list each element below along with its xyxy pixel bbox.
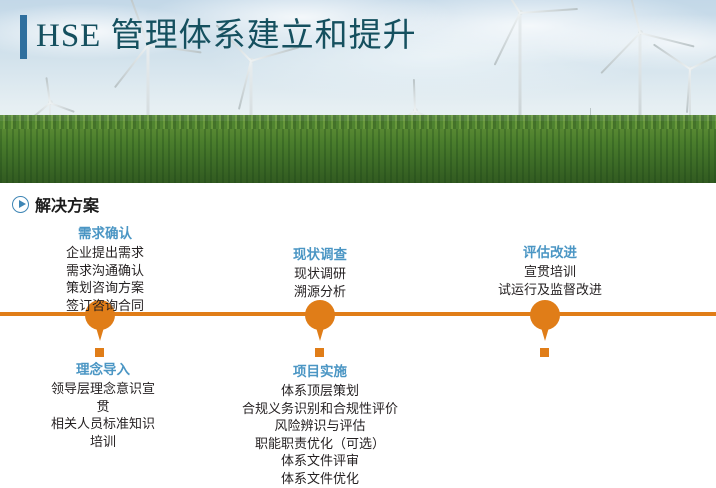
- timeline-node-above-3: 评估改进 宣贯培训 试运行及监督改进: [480, 243, 620, 298]
- timeline-square-3: [540, 348, 549, 357]
- node-item: 体系顶层策划: [230, 382, 410, 400]
- play-circle-icon: [12, 196, 29, 213]
- node-item: 体系文件优化: [230, 470, 410, 488]
- timeline-square-1: [95, 348, 104, 357]
- solution-heading: 解决方案: [12, 192, 99, 216]
- timeline-square-2: [315, 348, 324, 357]
- node-item: 风险辨识与评估: [230, 417, 410, 435]
- marker-tip: [95, 324, 105, 341]
- node-item: 策划咨询方案: [30, 279, 180, 297]
- node-item: 职能职责优化（可选）: [230, 435, 410, 453]
- node-item: 相关人员标准知识培训: [48, 415, 158, 450]
- timeline-marker-3[interactable]: [530, 300, 560, 340]
- timeline-node-below-2: 项目实施 体系顶层策划 合规义务识别和合规性评价 风险辨识与评估 职能职责优化（…: [230, 362, 410, 488]
- node-item: 企业提出需求: [30, 244, 180, 262]
- page-title: HSE 管理体系建立和提升: [36, 12, 417, 60]
- node-title: 评估改进: [480, 243, 620, 262]
- timeline-node-above-2: 现状调查 现状调研 溯源分析: [245, 245, 395, 300]
- node-item: 签订咨询合同: [30, 297, 180, 315]
- timeline-marker-2[interactable]: [305, 300, 335, 340]
- node-item: 合规义务识别和合规性评价: [230, 400, 410, 418]
- marker-tip: [315, 324, 325, 341]
- timeline-node-below-1: 理念导入 领导层理念意识宣贯 相关人员标准知识培训: [48, 360, 158, 450]
- forest-foreground: [0, 121, 716, 183]
- node-item: 宣贯培训: [480, 263, 620, 281]
- node-item: 需求沟通确认: [30, 262, 180, 280]
- node-title: 需求确认: [30, 224, 180, 243]
- hero-banner: HSE 管理体系建立和提升: [0, 0, 716, 183]
- node-item: 溯源分析: [245, 283, 395, 301]
- node-item: 现状调研: [245, 265, 395, 283]
- node-item: 领导层理念意识宣贯: [48, 380, 158, 415]
- timeline-node-above-1: 需求确认 企业提出需求 需求沟通确认 策划咨询方案 签订咨询合同: [30, 224, 180, 314]
- node-title: 项目实施: [230, 362, 410, 381]
- node-title: 现状调查: [245, 245, 395, 264]
- node-item: 试运行及监督改进: [480, 281, 620, 299]
- node-title: 理念导入: [48, 360, 158, 379]
- marker-tip: [540, 324, 550, 341]
- title-accent-bar: [20, 15, 27, 59]
- node-item: 体系文件评审: [230, 452, 410, 470]
- solution-heading-label: 解决方案: [35, 192, 99, 216]
